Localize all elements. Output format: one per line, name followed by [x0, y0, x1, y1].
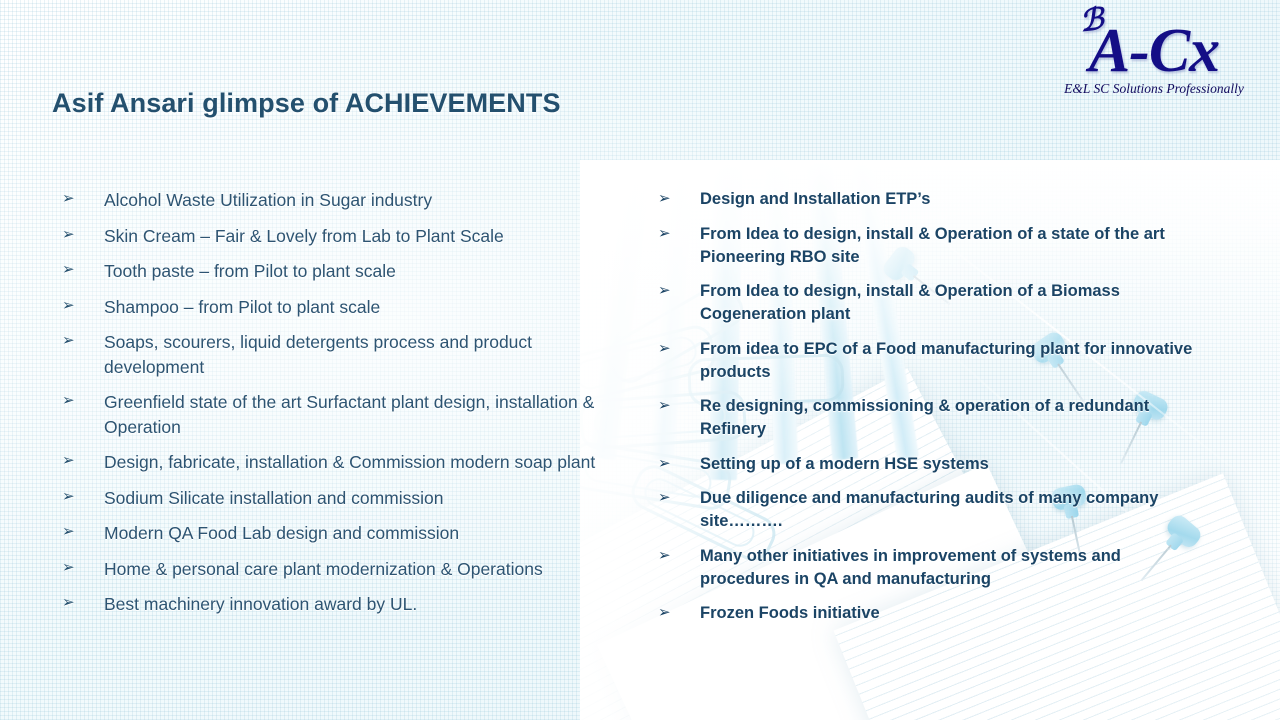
achievement-left-item-label: Design, fabricate, installation & Commis…	[104, 450, 602, 475]
page-title: Asif Ansari glimpse of ACHIEVEMENTS	[52, 88, 561, 119]
arrow-bullet-icon: ➢	[62, 259, 104, 281]
achievement-left-item-label: Best machinery innovation award by UL.	[104, 592, 602, 617]
arrow-bullet-icon: ➢	[62, 592, 104, 614]
achievements-left-column: ➢Alcohol Waste Utilization in Sugar indu…	[62, 188, 602, 628]
achievement-right-item: ➢Design and Installation ETP’s	[658, 188, 1198, 211]
achievement-left-item: ➢Shampoo – from Pilot to plant scale	[62, 295, 602, 320]
achievement-left-item-label: Modern QA Food Lab design and commission	[104, 521, 602, 546]
achievement-right-item: ➢Due diligence and manufacturing audits …	[658, 487, 1198, 533]
achievement-left-item: ➢Tooth paste – from Pilot to plant scale	[62, 259, 602, 284]
logo-mark-text: A-Cx	[1089, 17, 1219, 85]
arrow-bullet-icon: ➢	[62, 224, 104, 246]
achievement-left-item-label: Tooth paste – from Pilot to plant scale	[104, 259, 602, 284]
arrow-bullet-icon: ➢	[62, 390, 104, 412]
achievement-left-item-label: Alcohol Waste Utilization in Sugar indus…	[104, 188, 602, 213]
achievement-left-item: ➢Modern QA Food Lab design and commissio…	[62, 521, 602, 546]
achievement-left-item-label: Home & personal care plant modernization…	[104, 557, 602, 582]
achievement-left-item: ➢Best machinery innovation award by UL.	[62, 592, 602, 617]
achievement-right-item: ➢Frozen Foods initiative	[658, 602, 1198, 625]
arrow-bullet-icon: ➢	[62, 486, 104, 508]
achievement-left-item: ➢Greenfield state of the art Surfactant …	[62, 390, 602, 439]
arrow-bullet-icon: ➢	[658, 453, 700, 475]
achievement-left-item: ➢Skin Cream – Fair & Lovely from Lab to …	[62, 224, 602, 249]
arrow-bullet-icon: ➢	[658, 338, 700, 360]
company-logo: ℬ A-Cx E&L SC Solutions Professionally	[1054, 22, 1254, 97]
arrow-bullet-icon: ➢	[62, 450, 104, 472]
arrow-bullet-icon: ➢	[658, 487, 700, 509]
achievement-left-item: ➢ Design, fabricate, installation & Comm…	[62, 450, 602, 475]
achievement-right-item: ➢From Idea to design, install & Operatio…	[658, 223, 1198, 269]
presentation-slide: Asif Ansari glimpse of ACHIEVEMENTS ℬ A-…	[0, 0, 1280, 720]
achievement-left-item: ➢Soaps, scourers, liquid detergents proc…	[62, 330, 602, 379]
achievement-right-item-label: Setting up of a modern HSE systems	[700, 453, 1198, 476]
achievement-left-item: ➢Home & personal care plant modernizatio…	[62, 557, 602, 582]
logo-wordmark: ℬ A-Cx	[1054, 22, 1254, 80]
achievement-right-item-label: From Idea to design, install & Operation…	[700, 223, 1198, 269]
achievement-right-item: ➢From Idea to design, install & Operatio…	[658, 280, 1198, 326]
achievement-left-item: ➢Sodium Silicate installation and commis…	[62, 486, 602, 511]
arrow-bullet-icon: ➢	[62, 188, 104, 210]
achievement-right-item: ➢Re designing, commissioning & operation…	[658, 395, 1198, 441]
arrow-bullet-icon: ➢	[62, 557, 104, 579]
achievement-right-item: ➢Setting up of a modern HSE systems	[658, 453, 1198, 476]
arrow-bullet-icon: ➢	[658, 602, 700, 624]
achievement-right-item-label: Design and Installation ETP’s	[700, 188, 1198, 211]
achievement-right-item-label: Due diligence and manufacturing audits o…	[700, 487, 1198, 533]
achievement-left-item: ➢Alcohol Waste Utilization in Sugar indu…	[62, 188, 602, 213]
achievement-right-item-label: From Idea to design, install & Operation…	[700, 280, 1198, 326]
achievement-right-item-label: From idea to EPC of a Food manufacturing…	[700, 338, 1198, 384]
arrow-bullet-icon: ➢	[62, 521, 104, 543]
arrow-bullet-icon: ➢	[658, 280, 700, 302]
achievements-right-column: ➢Design and Installation ETP’s➢From Idea…	[658, 188, 1198, 637]
achievement-right-item: ➢Many other initiatives in improvement o…	[658, 545, 1198, 591]
achievement-right-item-label: Many other initiatives in improvement of…	[700, 545, 1198, 591]
achievement-left-item-label: Greenfield state of the art Surfactant p…	[104, 390, 602, 439]
achievement-left-item-label: Shampoo – from Pilot to plant scale	[104, 295, 602, 320]
arrow-bullet-icon: ➢	[658, 188, 700, 210]
achievement-left-item-label: Soaps, scourers, liquid detergents proce…	[104, 330, 602, 379]
arrow-bullet-icon: ➢	[658, 545, 700, 567]
achievement-left-item-label: Sodium Silicate installation and commiss…	[104, 486, 602, 511]
arrow-bullet-icon: ➢	[658, 223, 700, 245]
achievement-left-item-label: Skin Cream – Fair & Lovely from Lab to P…	[104, 224, 602, 249]
achievement-right-item-label: Frozen Foods initiative	[700, 602, 1198, 625]
achievement-right-item: ➢From idea to EPC of a Food manufacturin…	[658, 338, 1198, 384]
arrow-bullet-icon: ➢	[62, 295, 104, 317]
arrow-bullet-icon: ➢	[658, 395, 700, 417]
achievement-right-item-label: Re designing, commissioning & operation …	[700, 395, 1198, 441]
arrow-bullet-icon: ➢	[62, 330, 104, 352]
logo-swash-icon: ℬ	[1077, 0, 1106, 51]
